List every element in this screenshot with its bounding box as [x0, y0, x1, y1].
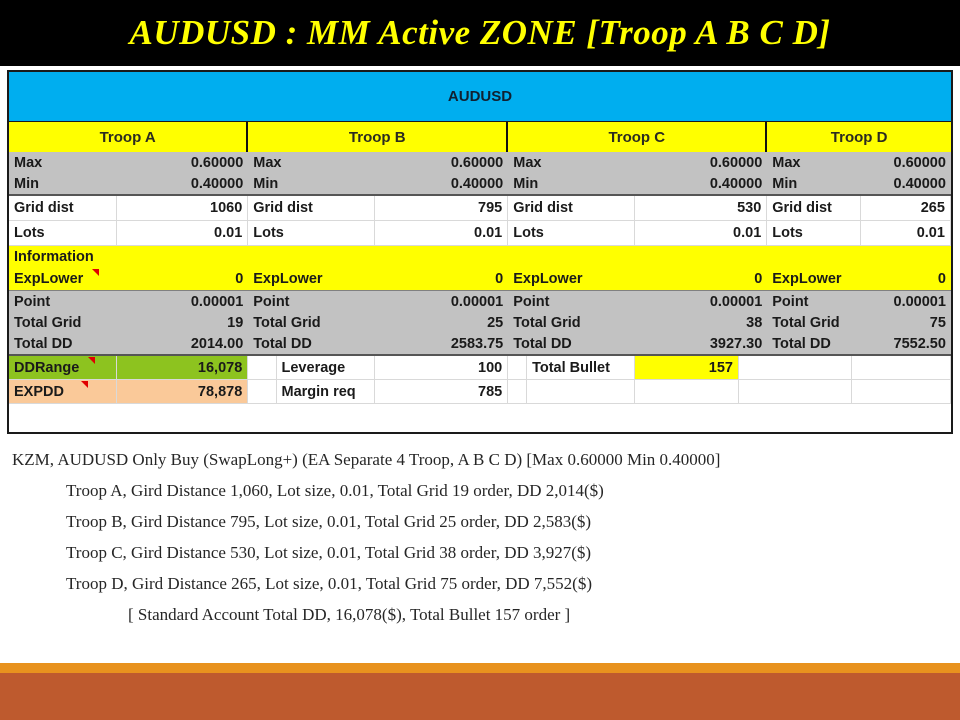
row-label-griddist-c: Grid dist [508, 196, 635, 221]
table-row-point: Point 0.00001 Point 0.00001 Point 0.0000… [9, 290, 951, 312]
row-label-explower-b: ExpLower [248, 268, 375, 290]
row-label-totalgrid-d: Total Grid [767, 312, 861, 334]
cell-spacer-c [739, 356, 852, 380]
footer-band-orange [0, 663, 960, 673]
cell-point-troop-c[interactable]: 0.00001 [635, 291, 767, 312]
row-label-leverage: Leverage [277, 356, 376, 380]
cell-griddist-troop-d[interactable]: 265 [861, 196, 950, 221]
row-label-griddist-b: Grid dist [248, 196, 375, 221]
row-label-total-bullet: Total Bullet [527, 356, 635, 380]
row-label-max-c: Max [508, 152, 635, 174]
cell-totaldd-troop-d[interactable]: 7552.50 [861, 334, 950, 354]
cell-totaldd-troop-b[interactable]: 2583.75 [375, 334, 508, 354]
cell-lots-troop-d[interactable]: 0.01 [861, 221, 950, 246]
row-label-explower-a-text: ExpLower [14, 271, 83, 287]
title-bar: AUDUSD : MM Active ZONE [Troop A B C D] [0, 0, 960, 66]
row-label-lots-d: Lots [767, 221, 861, 246]
cell-explower-troop-b[interactable]: 0 [375, 268, 508, 290]
row-label-totaldd-b: Total DD [248, 334, 375, 354]
note-line-troop-a: Troop A, Gird Distance 1,060, Lot size, … [0, 475, 960, 506]
comment-marker-icon [81, 381, 88, 388]
banner-label: AUDUSD [9, 72, 951, 121]
row-label-totaldd-d: Total DD [767, 334, 861, 354]
row-label-point-c: Point [508, 291, 635, 312]
table-row-max: Max 0.60000 Max 0.60000 Max 0.60000 Max … [9, 152, 951, 174]
notes-block: KZM, AUDUSD Only Buy (SwapLong+) (EA Sep… [0, 444, 960, 630]
cell-lots-troop-b[interactable]: 0.01 [375, 221, 508, 246]
cell-total-bullet-value[interactable]: 157 [635, 356, 739, 380]
table-banner-row: AUDUSD [9, 72, 951, 122]
row-label-totalgrid-c: Total Grid [508, 312, 635, 334]
page-title: AUDUSD : MM Active ZONE [Troop A B C D] [129, 13, 830, 53]
cell-totaldd-troop-a[interactable]: 2014.00 [117, 334, 248, 354]
row-label-max-b: Max [248, 152, 375, 174]
cell-expdd-value[interactable]: 78,878 [117, 380, 248, 404]
table-row-explower: ExpLower 0 ExpLower 0 ExpLower 0 ExpLowe… [9, 268, 951, 290]
table-row-grid-dist: Grid dist 1060 Grid dist 795 Grid dist 5… [9, 196, 951, 221]
table-row-total-dd: Total DD 2014.00 Total DD 2583.75 Total … [9, 334, 951, 356]
row-label-point-b: Point [248, 291, 375, 312]
table-row-total-grid: Total Grid 19 Total Grid 25 Total Grid 3… [9, 312, 951, 334]
row-label-margin-req: Margin req [277, 380, 376, 404]
cell-lots-troop-c[interactable]: 0.01 [635, 221, 767, 246]
spreadsheet-table: AUDUSD Troop A Troop B Troop C Troop D M… [7, 70, 953, 434]
row-label-explower-d: ExpLower [767, 268, 861, 290]
cell-max-troop-c[interactable]: 0.60000 [635, 152, 767, 174]
row-label-ddrange: DDRange [9, 356, 117, 380]
cell-point-troop-a[interactable]: 0.00001 [117, 291, 248, 312]
row-label-min-a: Min [9, 174, 117, 194]
cell-explower-troop-d[interactable]: 0 [861, 268, 950, 290]
information-label: Information [9, 246, 951, 268]
table-header-row: Troop A Troop B Troop C Troop D [9, 122, 951, 152]
row-label-ddrange-text: DDRange [14, 360, 79, 376]
row-label-point-d: Point [767, 291, 861, 312]
row-label-totaldd-a: Total DD [9, 334, 117, 354]
cell-spacer-g [527, 380, 635, 404]
cell-point-troop-d[interactable]: 0.00001 [861, 291, 950, 312]
row-label-griddist-d: Grid dist [767, 196, 861, 221]
row-label-expdd-text: EXPDD [14, 384, 64, 400]
column-header-troop-d[interactable]: Troop D [767, 122, 951, 152]
row-label-max-d: Max [767, 152, 861, 174]
row-label-lots-c: Lots [508, 221, 635, 246]
table-row-ddrange: DDRange 16,078 Leverage 100 Total Bullet… [9, 356, 951, 380]
row-label-min-d: Min [767, 174, 861, 194]
row-label-lots-b: Lots [248, 221, 375, 246]
cell-explower-troop-a[interactable]: 0 [117, 268, 248, 290]
column-header-troop-c[interactable]: Troop C [508, 122, 767, 152]
note-line-account-total: [ Standard Account Total DD, 16,078($), … [0, 599, 960, 630]
column-header-troop-a[interactable]: Troop A [9, 122, 248, 152]
row-label-explower-c: ExpLower [508, 268, 635, 290]
table-row-lots: Lots 0.01 Lots 0.01 Lots 0.01 Lots 0.01 [9, 221, 951, 246]
row-label-point-a: Point [9, 291, 117, 312]
cell-spacer-f [508, 380, 527, 404]
cell-spacer-d [852, 356, 951, 380]
note-line-troop-d: Troop D, Gird Distance 265, Lot size, 0.… [0, 568, 960, 599]
cell-totalgrid-troop-a[interactable]: 19 [117, 312, 248, 334]
cell-griddist-troop-c[interactable]: 530 [635, 196, 767, 221]
cell-ddrange-value[interactable]: 16,078 [117, 356, 248, 380]
cell-griddist-troop-a[interactable]: 1060 [117, 196, 248, 221]
cell-leverage-value[interactable]: 100 [375, 356, 508, 380]
table-row-expdd: EXPDD 78,878 Margin req 785 [9, 380, 951, 404]
row-label-min-b: Min [248, 174, 375, 194]
row-label-lots-a: Lots [9, 221, 117, 246]
comment-marker-icon [92, 269, 99, 276]
cell-max-troop-a[interactable]: 0.60000 [117, 152, 248, 174]
footer-band-rust [0, 673, 960, 720]
row-label-totalgrid-a: Total Grid [9, 312, 117, 334]
cell-spacer-j [852, 380, 951, 404]
table-row-min: Min 0.40000 Min 0.40000 Min 0.40000 Min … [9, 174, 951, 196]
comment-marker-icon [88, 357, 95, 364]
cell-totalgrid-troop-c[interactable]: 38 [635, 312, 767, 334]
row-label-griddist-a: Grid dist [9, 196, 117, 221]
cell-min-troop-d[interactable]: 0.40000 [861, 174, 950, 194]
cell-min-troop-b[interactable]: 0.40000 [375, 174, 508, 194]
row-label-totaldd-c: Total DD [508, 334, 635, 354]
cell-totalgrid-troop-b[interactable]: 25 [375, 312, 508, 334]
column-header-troop-b[interactable]: Troop B [248, 122, 508, 152]
note-line-troop-b: Troop B, Gird Distance 795, Lot size, 0.… [0, 506, 960, 537]
cell-point-troop-b[interactable]: 0.00001 [375, 291, 508, 312]
cell-min-troop-a[interactable]: 0.40000 [117, 174, 248, 194]
cell-spacer-b [508, 356, 527, 380]
cell-lots-troop-a[interactable]: 0.01 [117, 221, 248, 246]
cell-spacer-e [248, 380, 276, 404]
row-label-max-a: Max [9, 152, 117, 174]
cell-margin-req-value[interactable]: 785 [375, 380, 508, 404]
cell-spacer-h [635, 380, 739, 404]
cell-min-troop-c[interactable]: 0.40000 [635, 174, 767, 194]
cell-max-troop-d[interactable]: 0.60000 [861, 152, 950, 174]
cell-spacer-i [739, 380, 852, 404]
row-label-totalgrid-b: Total Grid [248, 312, 375, 334]
table-row-information: Information [9, 246, 951, 268]
cell-totaldd-troop-c[interactable]: 3927.30 [635, 334, 767, 354]
cell-explower-troop-c[interactable]: 0 [635, 268, 767, 290]
row-label-explower-a: ExpLower [9, 268, 117, 290]
row-label-expdd: EXPDD [9, 380, 117, 404]
cell-totalgrid-troop-d[interactable]: 75 [861, 312, 950, 334]
cell-griddist-troop-b[interactable]: 795 [375, 196, 508, 221]
note-line-troop-c: Troop C, Gird Distance 530, Lot size, 0.… [0, 537, 960, 568]
cell-spacer-a [248, 356, 276, 380]
cell-max-troop-b[interactable]: 0.60000 [375, 152, 508, 174]
row-label-min-c: Min [508, 174, 635, 194]
note-line-summary: KZM, AUDUSD Only Buy (SwapLong+) (EA Sep… [0, 444, 960, 475]
